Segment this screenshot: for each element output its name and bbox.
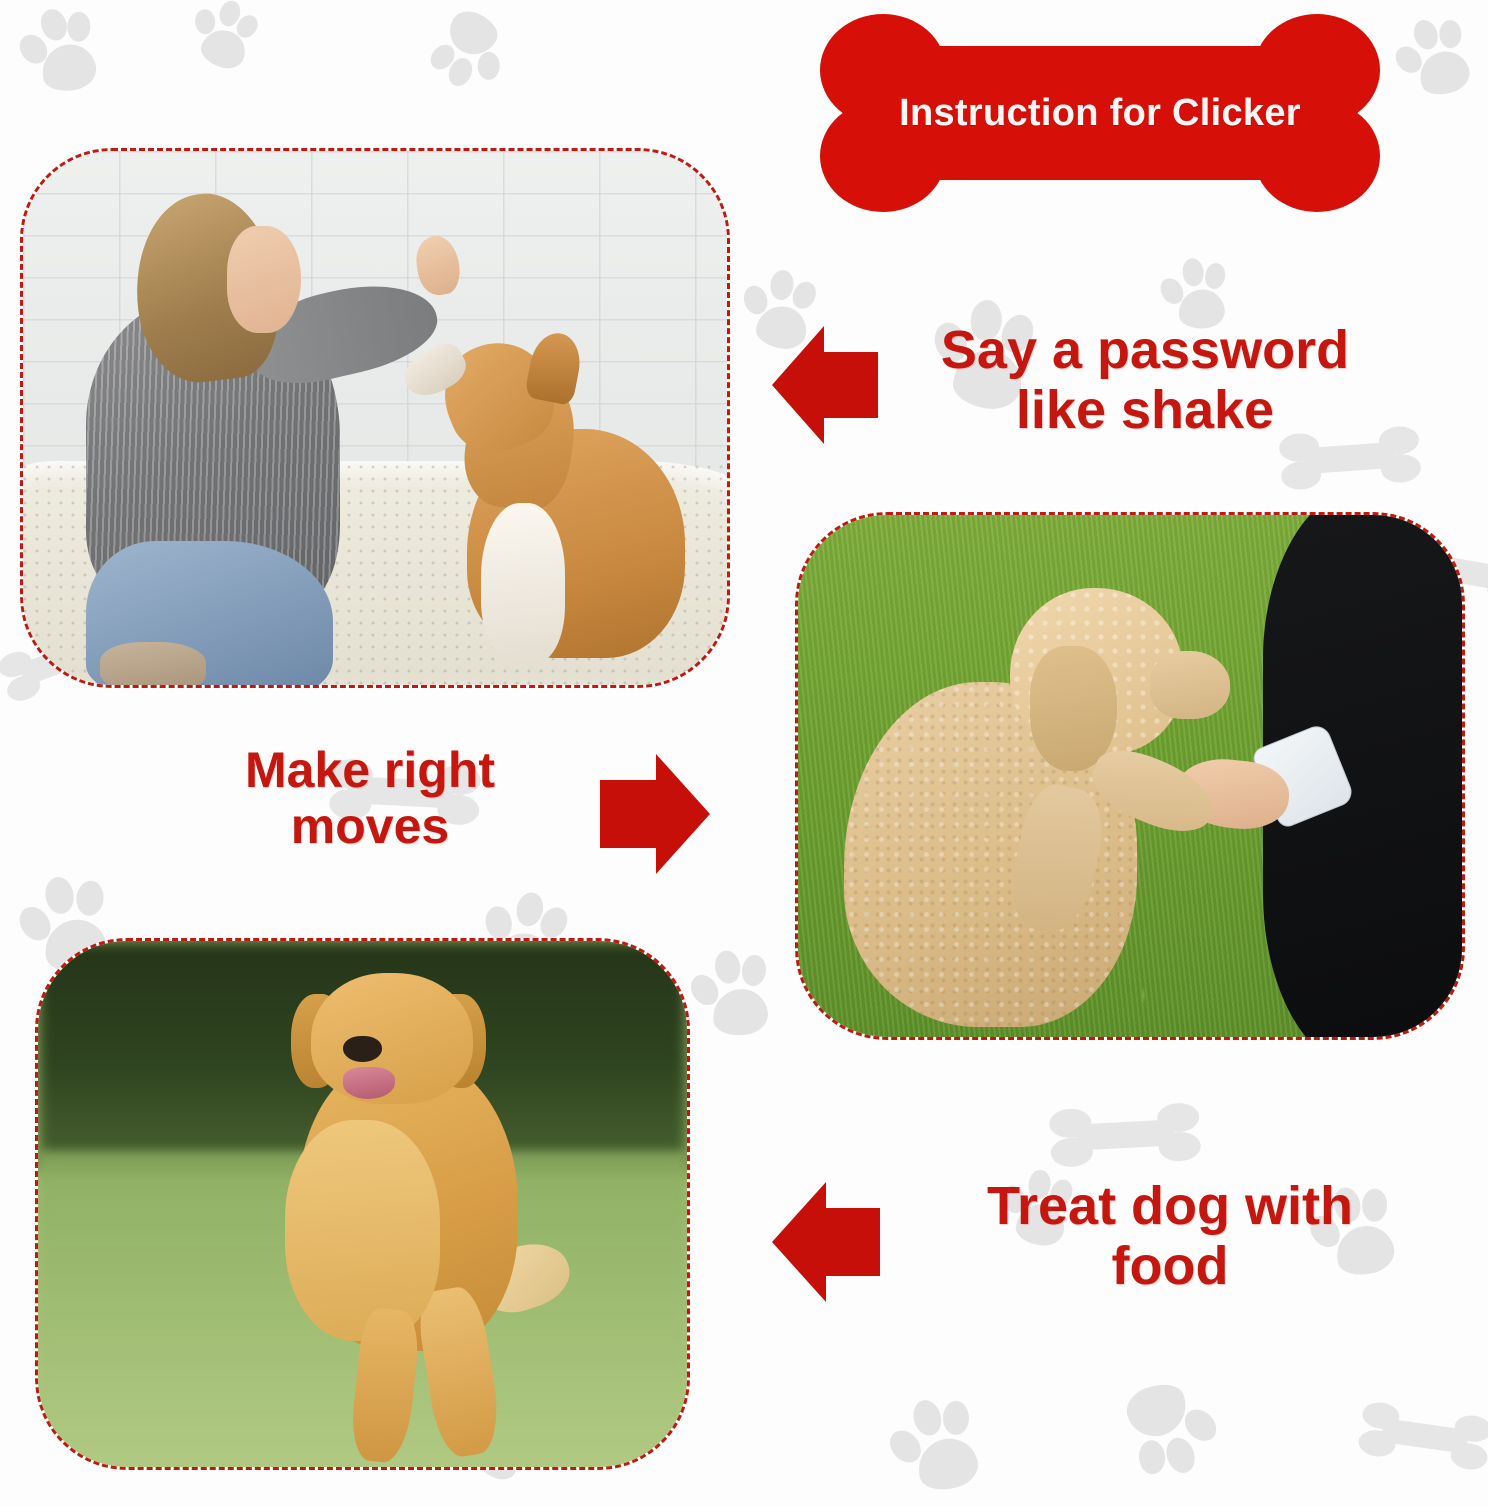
step-1-caption: Say a password like shake (880, 320, 1410, 441)
photo-scene (38, 941, 687, 1467)
bone-watermark (1357, 1399, 1488, 1473)
infographic-canvas: Instruction for Clicker (0, 0, 1488, 1500)
photo-scene (798, 515, 1462, 1037)
photo-woman-training-corgi (20, 148, 730, 688)
paw-print-watermark (10, 0, 112, 102)
paw-print-watermark (1385, 8, 1486, 109)
woman-shoe (100, 642, 206, 685)
caption-line: moves (180, 798, 560, 854)
photo-scene (23, 151, 727, 685)
page-title: Instruction for Clicker (820, 8, 1380, 218)
paw-print-watermark (181, 0, 269, 79)
header-bone-banner: Instruction for Clicker (820, 8, 1380, 218)
paw-print-watermark (879, 1387, 998, 1506)
arrow-left-icon (772, 322, 878, 448)
paw-print-watermark (684, 944, 783, 1043)
poodle-muzzle (1150, 651, 1230, 719)
step-2-caption: Make right moves (180, 742, 560, 854)
photo-golden-retriever-running (35, 938, 690, 1470)
arrow-right-icon (600, 750, 710, 878)
arrow-left-icon (772, 1178, 880, 1306)
caption-line: Say a password (880, 320, 1410, 380)
caption-line: Treat dog with (920, 1176, 1420, 1236)
step-3-caption: Treat dog with food (920, 1176, 1420, 1297)
bone-watermark (1048, 1100, 1201, 1170)
caption-line: Make right (180, 742, 560, 798)
corgi-chest (481, 503, 565, 663)
caption-line: like shake (880, 380, 1410, 440)
poodle-ear (1030, 646, 1116, 771)
paw-print-watermark (1106, 1366, 1229, 1489)
paw-print-watermark (417, 0, 521, 101)
photo-poodle-shaking-hand (795, 512, 1465, 1040)
retriever-chest (285, 1120, 441, 1341)
caption-line: food (920, 1236, 1420, 1296)
retriever-nose (343, 1036, 382, 1062)
retriever-open-mouth (343, 1067, 395, 1099)
woman-face (227, 226, 301, 333)
